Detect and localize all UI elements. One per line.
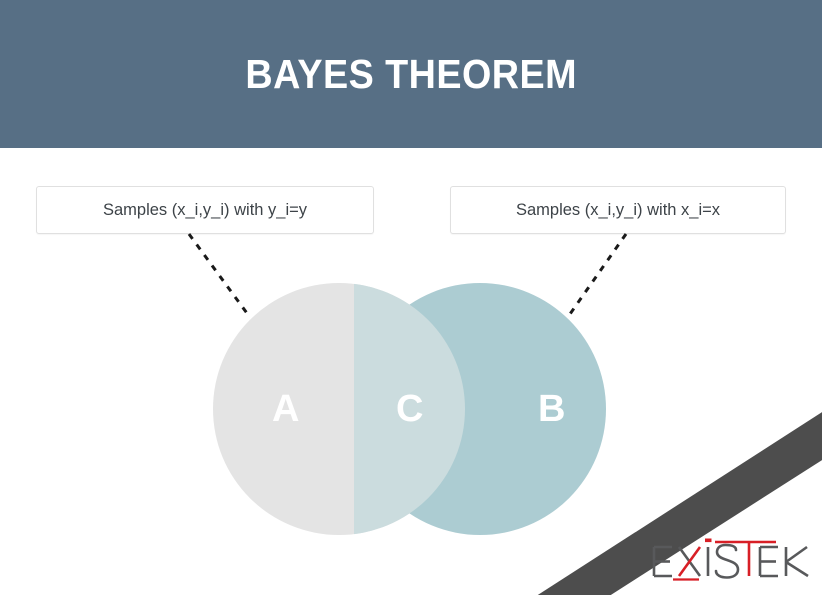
page-title: BAYES THEOREM [245, 51, 577, 98]
header-banner: BAYES THEOREM [0, 0, 822, 148]
logo-letter-k-icon [786, 547, 808, 576]
logo-letter-e1-icon [654, 547, 672, 576]
logo-letter-i-icon [705, 539, 712, 577]
callout-label-right-text: Samples (x_i,y_i) with x_i=x [516, 201, 720, 220]
callout-label-left: Samples (x_i,y_i) with y_i=y [36, 186, 374, 234]
existek-logo [652, 538, 814, 584]
venn-label-a: A [252, 281, 320, 537]
venn-label-c: C [376, 281, 444, 537]
logo-letter-e2-icon [760, 547, 778, 576]
logo-letter-s-icon [716, 545, 738, 578]
logo-letter-x-icon [673, 547, 700, 580]
slide-canvas: BAYES THEOREM Samples (x_i,y_i) with y_i… [0, 0, 822, 595]
callout-label-right: Samples (x_i,y_i) with x_i=x [450, 186, 786, 234]
callout-label-left-text: Samples (x_i,y_i) with y_i=y [103, 201, 307, 220]
